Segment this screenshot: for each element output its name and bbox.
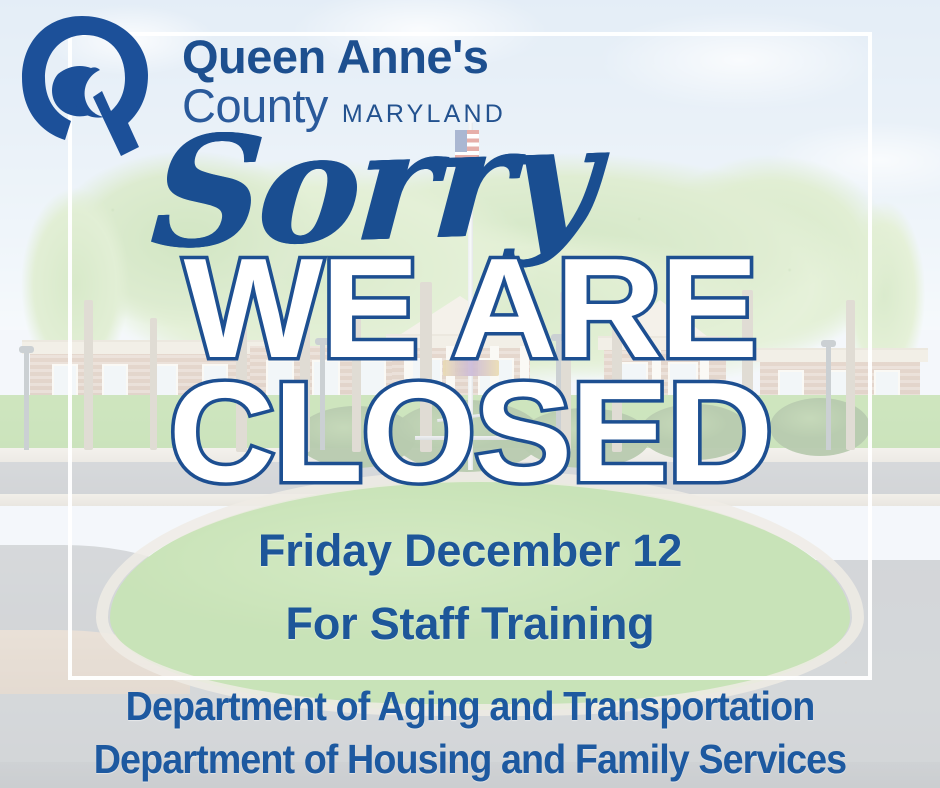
department-line: Department of Housing and Family Service… [38, 739, 903, 780]
headline-block: WE ARE CLOSED [0, 248, 940, 494]
department-line: Department of Aging and Transportation [38, 686, 903, 727]
closure-reason: For Staff Training [0, 601, 940, 646]
closure-date: Friday December 12 [0, 528, 940, 573]
queen-annes-county-q-crescent-logo [14, 12, 164, 160]
headline-closed: CLOSED [0, 372, 940, 494]
flyer-canvas: Queen Anne's County MARYLAND Sorry WE AR… [0, 0, 940, 788]
department-list: Department of Aging and Transportation D… [0, 686, 940, 780]
headline-we-are: WE ARE [0, 248, 940, 370]
closure-details: Friday December 12 For Staff Training [0, 528, 940, 646]
logo-line-queen-annes: Queen Anne's [182, 34, 506, 80]
